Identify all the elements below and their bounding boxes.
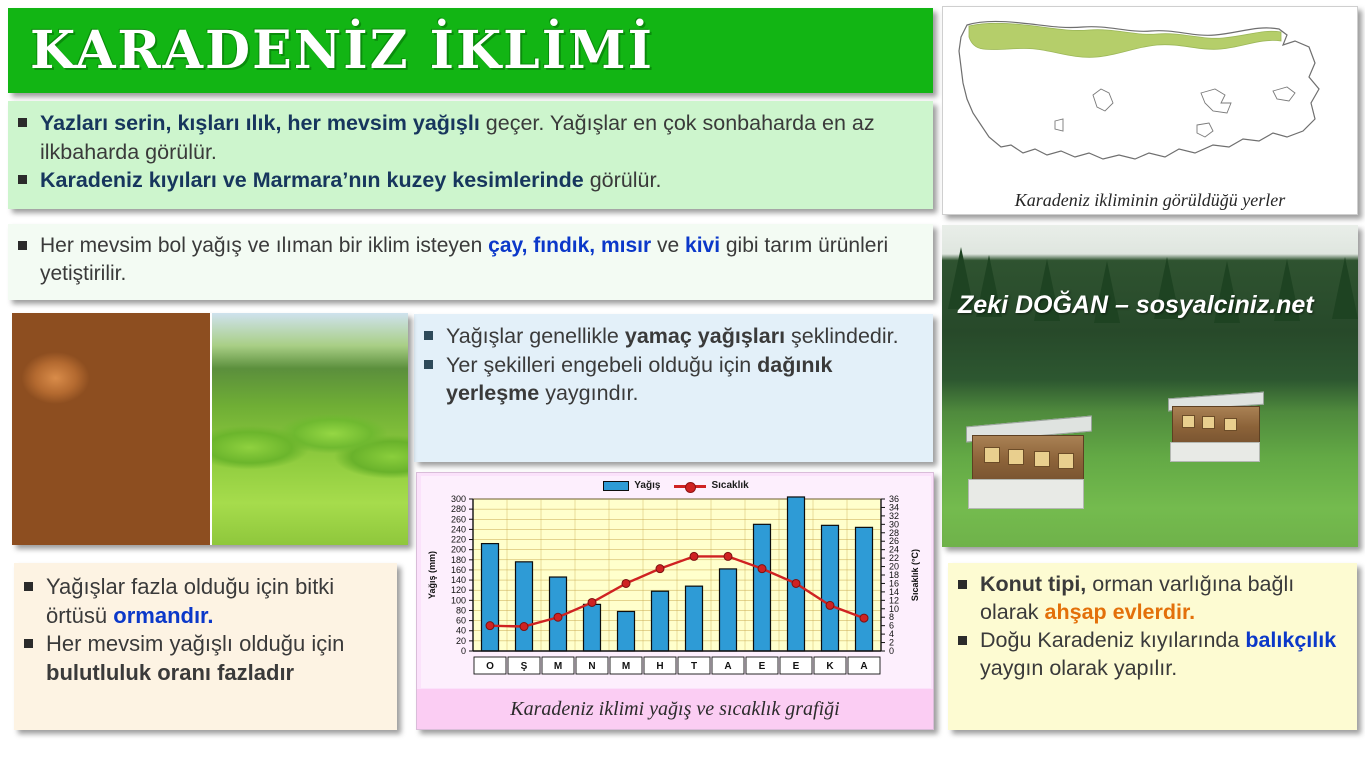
chart-month-label: A xyxy=(860,661,867,672)
bullet-square-icon xyxy=(18,118,27,127)
photo-tea-plantation xyxy=(210,313,408,545)
chart-y-tick-label: 180 xyxy=(451,555,466,565)
chart-temperature-point xyxy=(554,613,562,621)
text-run: ve xyxy=(651,234,685,257)
chart-month-label: Ş xyxy=(521,661,528,672)
text-run: yaygındır. xyxy=(539,381,638,405)
legend-item-yagis: Yağış xyxy=(603,480,660,491)
chart-y-tick-label: 80 xyxy=(456,605,466,615)
chart-bar xyxy=(822,525,839,651)
chart-y-tick-label: 100 xyxy=(451,595,466,605)
bullet-square-icon xyxy=(958,636,967,645)
chart-plot-wrapper: Yağış Sıcaklık 0204060801001201401601802… xyxy=(421,476,931,688)
chart-y-tick-label: 60 xyxy=(456,616,466,626)
bullet-text: Her mevsim yağışlı olduğu için bulutlulu… xyxy=(46,630,383,687)
chart-y-tick-label: 260 xyxy=(451,514,466,524)
chart-y2-tick-label: 36 xyxy=(889,494,899,504)
chart-temperature-point xyxy=(622,579,630,587)
chart-month-label: M xyxy=(622,661,630,672)
bullet-text: Yer şekilleri engebeli olduğu için dağın… xyxy=(446,351,919,408)
text-run: görülür. xyxy=(590,168,662,192)
text-run: Karadeniz kıyıları ve Marmara’nın kuzey … xyxy=(40,168,590,192)
textbox-vegetation: Yağışlar fazla olduğu için bitki örtüsü … xyxy=(14,563,397,730)
watermark-author: Zeki DOĞAN – sosyalciniz.net xyxy=(958,291,1314,320)
chart-bar xyxy=(788,497,805,651)
page-title: KARADENİZ İKLİMİ xyxy=(8,20,654,81)
chart-y2-axis-title: Sıcaklık (°C) xyxy=(910,549,920,601)
chart-bar xyxy=(754,524,771,651)
chart-svg: 0204060801001201401601802002202402602803… xyxy=(421,493,931,688)
text-run: Yer şekilleri engebeli olduğu için xyxy=(446,353,757,377)
text-run: Her mevsim yağışlı olduğu için xyxy=(46,631,344,656)
bullet-square-icon xyxy=(24,639,33,648)
bullet-text: Her mevsim bol yağış ve ılıman bir iklim… xyxy=(40,232,919,289)
climate-chart-panel: Yağış Sıcaklık 0204060801001201401601802… xyxy=(416,472,934,730)
chart-y-tick-label: 280 xyxy=(451,504,466,514)
legend-item-sicaklik: Sıcaklık xyxy=(674,480,748,491)
chart-bar xyxy=(856,527,873,651)
chart-bar xyxy=(482,544,499,651)
chart-y-tick-label: 220 xyxy=(451,535,466,545)
map-caption: Karadeniz ikliminin görüldüğü yerler xyxy=(943,190,1357,211)
text-run: bulutluluk oranı fazladır xyxy=(46,660,294,685)
bullet-item: Her mevsim bol yağış ve ılıman bir iklim… xyxy=(18,232,919,289)
text-run: Konut tipi, xyxy=(980,572,1086,596)
chart-temperature-point xyxy=(860,614,868,622)
photo-village-wooden-houses: Zeki DOĞAN – sosyalciniz.net xyxy=(942,225,1358,547)
bullet-item: Yer şekilleri engebeli olduğu için dağın… xyxy=(424,351,919,408)
bullet-item: Yağışlar fazla olduğu için bitki örtüsü … xyxy=(24,573,383,630)
text-run: ormandır. xyxy=(113,603,213,628)
bullet-item: Doğu Karadeniz kıyılarında balıkçılık ya… xyxy=(958,627,1343,683)
text-run: çay, fındık, mısır xyxy=(488,234,651,257)
bullet-square-icon xyxy=(958,580,967,589)
bullet-square-icon xyxy=(424,331,433,340)
text-run: Doğu Karadeniz kıyılarında xyxy=(980,628,1245,652)
chart-y-tick-label: 200 xyxy=(451,545,466,555)
chart-y-tick-label: 240 xyxy=(451,524,466,534)
chart-y-tick-label: 20 xyxy=(456,636,466,646)
textbox-housing-fishing: Konut tipi, orman varlığına bağlı olarak… xyxy=(948,563,1357,730)
chart-temperature-point xyxy=(758,565,766,573)
textbox-agriculture: Her mevsim bol yağış ve ılıman bir iklim… xyxy=(8,224,933,300)
chart-month-label: K xyxy=(826,661,834,672)
legend-bar-icon xyxy=(603,481,629,491)
legend-label-yagis: Yağış xyxy=(634,480,660,491)
chart-y-tick-label: 300 xyxy=(451,494,466,504)
text-run: ahşap evlerdir. xyxy=(1045,600,1196,624)
bullet-square-icon xyxy=(24,582,33,591)
bullet-square-icon xyxy=(18,241,27,250)
bullet-item: Karadeniz kıyıları ve Marmara’nın kuzey … xyxy=(18,166,919,195)
bullet-item: Yağışlar genellikle yamaç yağışları şekl… xyxy=(424,322,919,351)
text-run: Her mevsim bol yağış ve ılıman bir iklim… xyxy=(40,234,488,257)
chart-month-label: T xyxy=(691,661,697,672)
chart-bar xyxy=(720,569,737,651)
photo-hazelnut-and-tea xyxy=(12,313,408,545)
chart-temperature-point xyxy=(724,552,732,560)
bullet-text: Doğu Karadeniz kıyılarında balıkçılık ya… xyxy=(980,627,1343,683)
bullet-item: Konut tipi, orman varlığına bağlı olarak… xyxy=(958,571,1343,627)
bullet-item: Her mevsim yağışlı olduğu için bulutlulu… xyxy=(24,630,383,687)
chart-temperature-point xyxy=(588,598,596,606)
chart-temperature-point xyxy=(792,579,800,587)
bullet-text: Yağışlar fazla olduğu için bitki örtüsü … xyxy=(46,573,383,630)
chart-y-tick-label: 0 xyxy=(461,646,466,656)
bullet-text: Konut tipi, orman varlığına bağlı olarak… xyxy=(980,571,1343,627)
chart-y-axis-title: Yağış (mm) xyxy=(427,551,437,599)
chart-temperature-point xyxy=(656,565,664,573)
turkey-map-svg xyxy=(943,7,1358,187)
chart-bar xyxy=(686,586,703,651)
chart-month-label: O xyxy=(486,661,494,672)
chart-temperature-point xyxy=(690,552,698,560)
chart-month-label: A xyxy=(724,661,731,672)
textbox-slope-rains: Yağışlar genellikle yamaç yağışları şekl… xyxy=(414,314,933,462)
legend-label-sicaklik: Sıcaklık xyxy=(711,480,748,491)
photo-hazelnuts-in-bowl xyxy=(12,313,210,545)
bullet-text: Karadeniz kıyıları ve Marmara’nın kuzey … xyxy=(40,166,919,195)
chart-y-tick-label: 40 xyxy=(456,626,466,636)
text-run: şeklindedir. xyxy=(785,324,899,348)
textbox-climate-summary: Yazları serin, kışları ılık, her mevsim … xyxy=(8,101,933,209)
chart-month-label: N xyxy=(588,661,595,672)
chart-month-label: E xyxy=(759,661,766,672)
slide-root: KARADENİZ İKLİMİ Yazları serin, kışları … xyxy=(0,0,1365,767)
bullet-square-icon xyxy=(18,175,27,184)
chart-legend: Yağış Sıcaklık xyxy=(421,477,931,494)
chart-bar xyxy=(584,604,601,651)
text-run: Yağışlar genellikle xyxy=(446,324,625,348)
bullet-square-icon xyxy=(424,360,433,369)
chart-temperature-point xyxy=(486,622,494,630)
lake-beysehir-path xyxy=(1055,119,1063,131)
chart-month-label: E xyxy=(793,661,800,672)
text-run: yamaç yağışları xyxy=(625,324,785,348)
photo-divider xyxy=(210,313,212,545)
chart-bar xyxy=(652,591,669,651)
chart-temperature-point xyxy=(520,623,528,631)
chart-month-label: H xyxy=(656,661,663,672)
bullet-item: Yazları serin, kışları ılık, her mevsim … xyxy=(18,109,919,166)
house-base-left xyxy=(968,479,1084,509)
chart-caption: Karadeniz iklimi yağış ve sıcaklık grafi… xyxy=(417,689,933,729)
chart-y-tick-label: 120 xyxy=(451,585,466,595)
chart-temperature-point xyxy=(826,601,834,609)
slide-title-banner: KARADENİZ İKLİMİ xyxy=(8,8,933,93)
chart-month-label: M xyxy=(554,661,562,672)
legend-line-icon xyxy=(674,481,706,491)
chart-y-tick-label: 140 xyxy=(451,575,466,585)
chart-bar xyxy=(516,562,533,651)
text-run: yaygın olarak yapılır. xyxy=(980,656,1177,680)
chart-y-tick-label: 160 xyxy=(451,565,466,575)
text-run: kivi xyxy=(685,234,720,257)
house-base-right xyxy=(1170,442,1260,462)
chart-bar xyxy=(618,611,635,651)
bullet-text: Yağışlar genellikle yamaç yağışları şekl… xyxy=(446,322,919,351)
text-run: Yazları serin, kışları ılık, her mevsim … xyxy=(40,111,486,135)
text-run: balıkçılık xyxy=(1245,628,1336,652)
map-panel-turkey: Karadeniz ikliminin görüldüğü yerler xyxy=(942,6,1358,215)
bullet-text: Yazları serin, kışları ılık, her mevsim … xyxy=(40,109,919,166)
